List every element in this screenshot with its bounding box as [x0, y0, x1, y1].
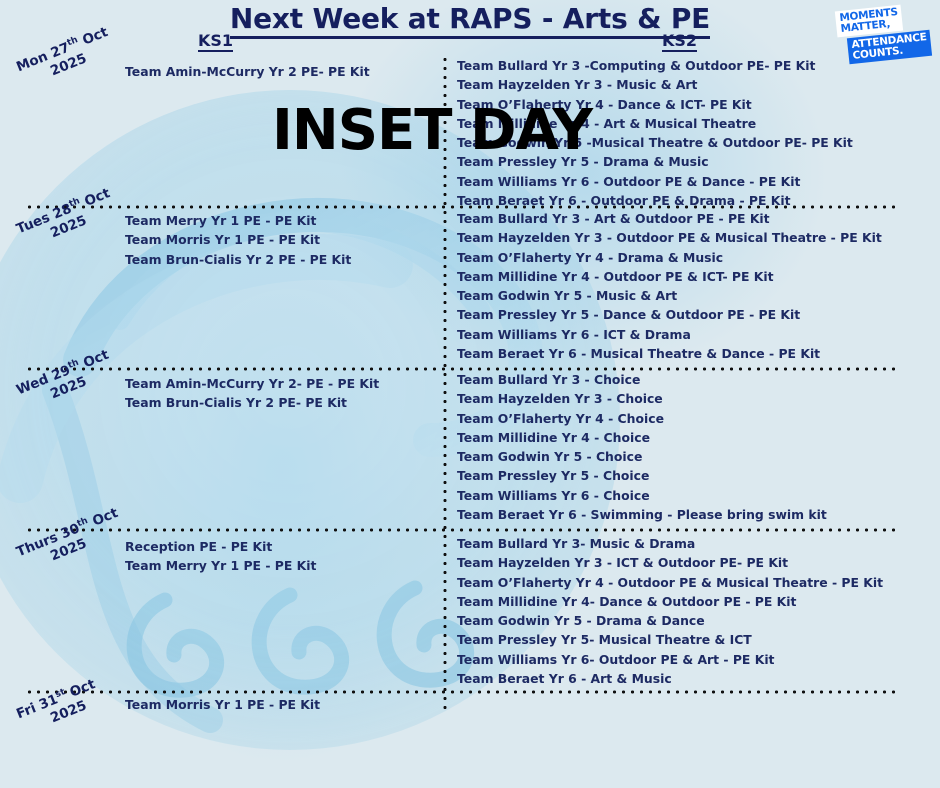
list-item: Team O’Flaherty Yr 4 - Drama & Music — [457, 248, 882, 267]
poster-root: Next Week at RAPS - Arts & PE KS1 KS2 MO… — [0, 0, 940, 788]
list-item: Team Williams Yr 6 - Choice — [457, 486, 827, 505]
list-item: Team Beraet Yr 6 - Art & Music — [457, 669, 883, 688]
column-header-ks2: KS2 — [662, 33, 697, 52]
list-item: Team Pressley Yr 5- Musical Theatre & IC… — [457, 630, 883, 649]
page-title-text: Next Week at RAPS - Arts & PE — [230, 2, 710, 39]
list-item: Reception PE - PE Kit — [125, 537, 316, 556]
list-item: Team Bullard Yr 3 -Computing & Outdoor P… — [457, 56, 853, 75]
list-item: Team O’Flaherty Yr 4 - Choice — [457, 409, 827, 428]
list-item: Team Godwin Yr 5 - Music & Art — [457, 286, 882, 305]
ks1-list-fri: Team Morris Yr 1 PE - PE Kit — [125, 695, 320, 714]
ks1-list-mon: Team Amin-McCurry Yr 2 PE- PE Kit — [125, 62, 370, 81]
ks1-list-wed: Team Amin-McCurry Yr 2- PE - PE Kit Team… — [125, 374, 379, 413]
inset-day-stamp: INSET DAY — [272, 103, 592, 159]
list-item: Team Amin-McCurry Yr 2 PE- PE Kit — [125, 62, 370, 81]
ks1-list-tues: Team Merry Yr 1 PE - PE Kit Team Morris … — [125, 211, 351, 269]
list-item: Team Williams Yr 6- Outdoor PE & Art - P… — [457, 650, 883, 669]
list-item: Team Brun-Cialis Yr 2 PE - PE Kit — [125, 250, 351, 269]
list-item: Team Brun-Cialis Yr 2 PE- PE Kit — [125, 393, 379, 412]
list-item: Team Godwin Yr 5 - Drama & Dance — [457, 611, 883, 630]
list-item: Team Merry Yr 1 PE - PE Kit — [125, 211, 351, 230]
list-item: Team Pressley Yr 5 - Dance & Outdoor PE … — [457, 305, 882, 324]
ks2-list-wed: Team Bullard Yr 3 - Choice Team Hayzelde… — [457, 370, 827, 524]
list-item: Team Bullard Yr 3- Music & Drama — [457, 534, 883, 553]
list-item: Team Hayzelden Yr 3 - Choice — [457, 389, 827, 408]
list-item: Team Williams Yr 6 - Outdoor PE & Dance … — [457, 172, 853, 191]
list-item: Team Millidine Yr 4- Dance & Outdoor PE … — [457, 592, 883, 611]
list-item: Team Beraet Yr 6 - Swimming - Please bri… — [457, 505, 827, 524]
list-item: Team Godwin Yr 5 - Choice — [457, 447, 827, 466]
day-label-fri: Fri 31st Oct 2025 — [14, 676, 104, 738]
list-item: Team Hayzelden Yr 3 - ICT & Outdoor PE- … — [457, 553, 883, 572]
list-item: Team O’Flaherty Yr 4 - Outdoor PE & Musi… — [457, 573, 883, 592]
day-label-tues: Tues 28th Oct 2025 — [14, 185, 119, 253]
day-label-wed: Wed 29th Oct 2025 — [14, 346, 117, 414]
list-item: Team Amin-McCurry Yr 2- PE - PE Kit — [125, 374, 379, 393]
list-item: Team Bullard Yr 3 - Choice — [457, 370, 827, 389]
list-item: Team Millidine Yr 4 - Choice — [457, 428, 827, 447]
day-divider-wed-thurs — [25, 528, 897, 532]
page-title: Next Week at RAPS - Arts & PE — [0, 2, 940, 35]
ks1-list-thurs: Reception PE - PE Kit Team Merry Yr 1 PE… — [125, 537, 316, 576]
list-item: Team Beraet Yr 6 - Outdoor PE & Drama - … — [457, 191, 853, 210]
ks2-list-thurs: Team Bullard Yr 3- Music & Drama Team Ha… — [457, 534, 883, 688]
list-item: Team Morris Yr 1 PE - PE Kit — [125, 230, 351, 249]
list-item: Team Williams Yr 6 - ICT & Drama — [457, 325, 882, 344]
list-item: Team Hayzelden Yr 3 - Outdoor PE & Music… — [457, 228, 882, 247]
day-divider-thurs-fri — [25, 690, 897, 694]
list-item: Team Pressley Yr 5 - Choice — [457, 466, 827, 485]
list-item: Team Hayzelden Yr 3 - Music & Art — [457, 75, 853, 94]
column-header-ks1: KS1 — [198, 33, 233, 52]
list-item: Team Bullard Yr 3 - Art & Outdoor PE - P… — [457, 209, 882, 228]
list-item: Team Morris Yr 1 PE - PE Kit — [125, 695, 320, 714]
list-item: Team Beraet Yr 6 - Musical Theatre & Dan… — [457, 344, 882, 363]
day-label-thurs: Thurs 30th Oct 2025 — [14, 505, 127, 576]
ks2-list-tues: Team Bullard Yr 3 - Art & Outdoor PE - P… — [457, 209, 882, 363]
list-item: Team Merry Yr 1 PE - PE Kit — [125, 556, 316, 575]
list-item: Team Millidine Yr 4 - Outdoor PE & ICT- … — [457, 267, 882, 286]
